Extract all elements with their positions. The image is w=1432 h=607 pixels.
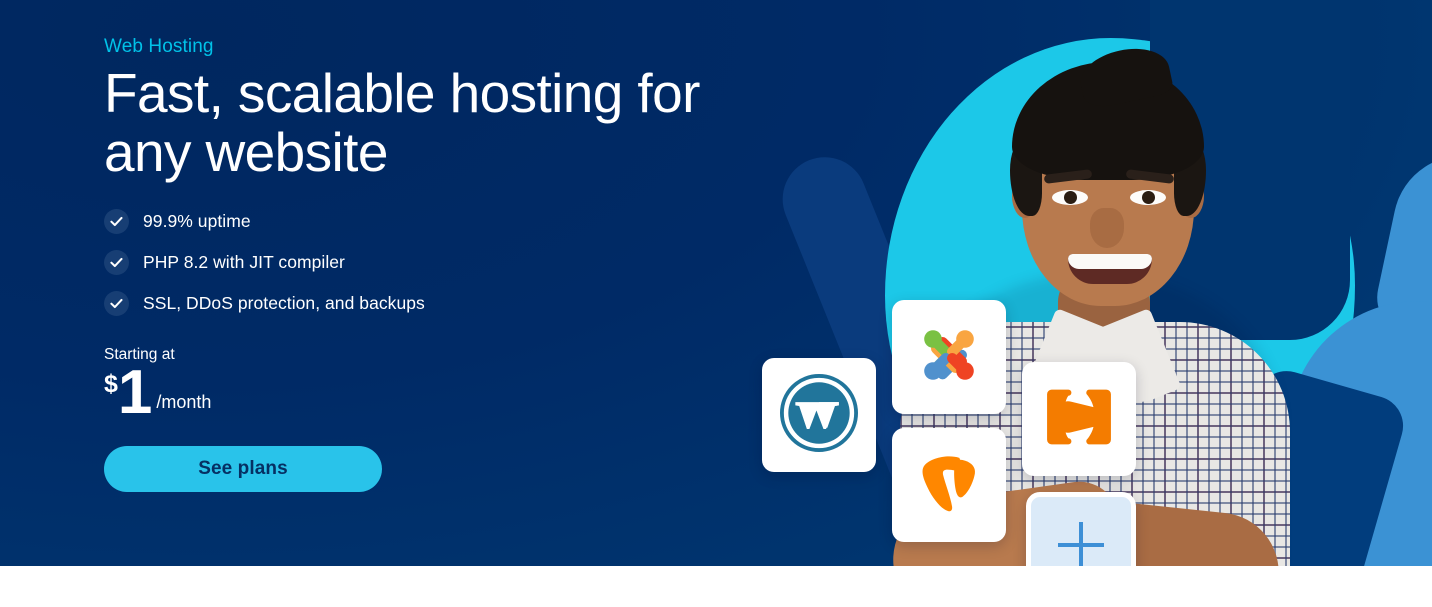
check-icon (104, 291, 129, 316)
hero-headline: Fast, scalable hosting for any website (104, 64, 724, 183)
contao-icon (1041, 379, 1117, 460)
price-value: $ 1 /month (104, 366, 744, 421)
contao-logo-tile[interactable] (1022, 362, 1136, 476)
price-label: Starting at (104, 346, 744, 364)
page-bottom-strip (0, 566, 1432, 607)
plus-icon (1052, 516, 1110, 567)
joomla-icon (909, 315, 989, 400)
feature-item: SSL, DDoS protection, and backups (104, 291, 744, 316)
check-icon (104, 250, 129, 275)
wordpress-logo-tile[interactable] (762, 358, 876, 472)
typo3-icon (912, 446, 986, 525)
typo3-logo-tile[interactable] (892, 428, 1006, 542)
see-plans-button[interactable]: See plans (104, 446, 382, 492)
hero-banner: Web Hosting Fast, scalable hosting for a… (0, 0, 1432, 566)
hero-copy: Web Hosting Fast, scalable hosting for a… (104, 36, 744, 492)
hero-eyebrow: Web Hosting (104, 36, 744, 58)
feature-item: 99.9% uptime (104, 209, 744, 234)
price-currency: $ (104, 372, 118, 397)
feature-label: 99.9% uptime (143, 211, 251, 232)
feature-list: 99.9% uptime PHP 8.2 with JIT compiler (104, 209, 744, 316)
price-block: Starting at $ 1 /month (104, 346, 744, 421)
page-root: Web Hosting Fast, scalable hosting for a… (0, 0, 1432, 607)
feature-label: SSL, DDoS protection, and backups (143, 293, 425, 314)
check-icon (104, 209, 129, 234)
joomla-logo-tile[interactable] (892, 300, 1006, 414)
feature-item: PHP 8.2 with JIT compiler (104, 250, 744, 275)
more-cms-plus-tile[interactable] (1026, 492, 1136, 566)
wordpress-icon (780, 374, 858, 457)
price-amount: 1 (118, 366, 151, 421)
price-period: /month (156, 392, 211, 413)
feature-label: PHP 8.2 with JIT compiler (143, 252, 345, 273)
